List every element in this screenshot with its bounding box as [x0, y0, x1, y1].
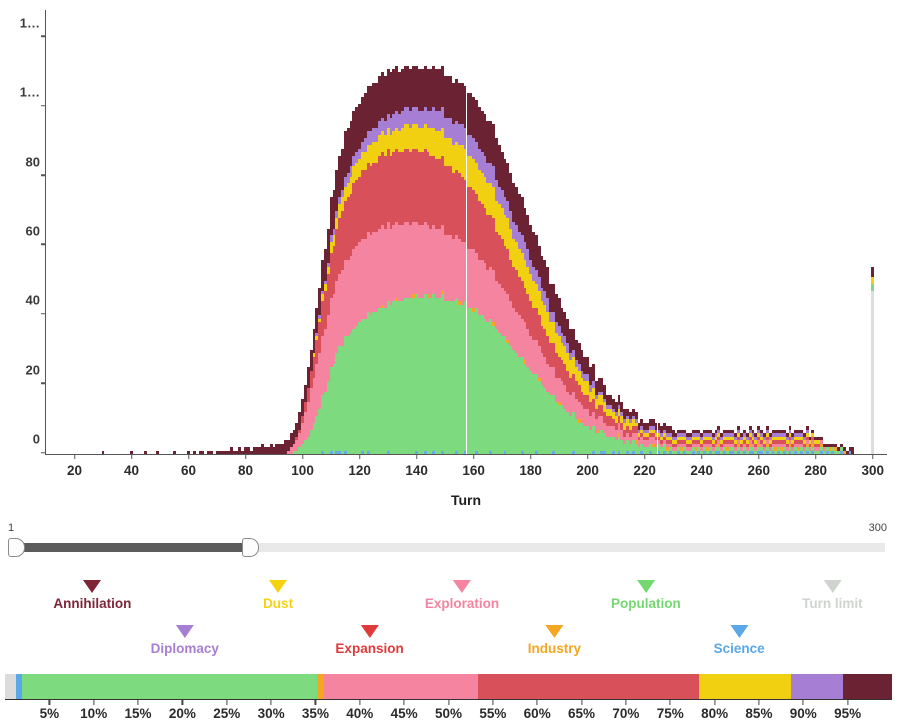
- bars-container: [46, 10, 887, 454]
- pct-axis-tick-mark: [492, 700, 493, 705]
- x-axis-tick-mark: [587, 454, 589, 459]
- pct-axis-tick-mark: [581, 700, 582, 705]
- x-axis-tick-label: 60: [181, 463, 196, 478]
- pct-segment-unlabeled-grey[interactable]: [5, 674, 16, 699]
- bar-segment-population: [871, 284, 874, 291]
- x-axis-tick-label: 260: [747, 463, 770, 478]
- pct-axis-tick-label: 25%: [213, 706, 240, 721]
- y-axis-tick-label: 0: [33, 432, 46, 447]
- bar-segment-annihilation: [635, 412, 638, 419]
- table-row[interactable]: [102, 451, 105, 454]
- x-axis-tick-mark: [188, 454, 190, 459]
- bar-segment-annihilation: [871, 267, 874, 277]
- triangle-down-icon: [637, 580, 655, 593]
- percentage-distribution-panel: 5%10%15%20%25%30%35%40%45%50%55%60%65%70…: [0, 670, 897, 725]
- pct-axis-tick-label: 75%: [657, 706, 684, 721]
- pct-axis-tick-label: 10%: [80, 706, 107, 721]
- legend-item-annihilation[interactable]: Annihilation: [53, 580, 131, 611]
- bar-segment-annihilation: [851, 447, 854, 454]
- pct-axis-tick-label: 35%: [302, 706, 329, 721]
- x-axis-tick-mark: [758, 454, 760, 459]
- pct-axis-tick-label: 40%: [346, 706, 373, 721]
- pct-axis-tick-mark: [93, 700, 94, 705]
- legend-item-expansion[interactable]: Expansion: [335, 625, 403, 656]
- triangle-down-icon: [83, 580, 101, 593]
- victory-type-legend: AnnihilationDustExplorationPopulationTur…: [0, 570, 897, 668]
- legend-item-label: Industry: [528, 641, 581, 656]
- legend-item-label: Turn limit: [802, 596, 863, 611]
- pct-axis-tick-mark: [49, 700, 50, 705]
- legend-item-label: Diplomacy: [151, 641, 219, 656]
- pct-axis-tick-mark: [137, 700, 138, 705]
- x-axis-tick-mark: [245, 454, 247, 459]
- pct-axis-tick-label: 50%: [435, 706, 462, 721]
- x-axis-tick-label: 220: [633, 463, 656, 478]
- legend-item-dust[interactable]: Dust: [263, 580, 293, 611]
- pct-axis-tick-mark: [448, 700, 449, 705]
- pct-axis-tick-mark: [670, 700, 671, 705]
- bar-segment-annihilation: [144, 451, 147, 454]
- pct-axis-tick-label: 65%: [568, 706, 595, 721]
- slider-max-label: 300: [869, 522, 887, 534]
- table-row[interactable]: [173, 451, 176, 454]
- slider-min-label: 1: [8, 522, 14, 534]
- x-axis-tick-label: 240: [690, 463, 713, 478]
- y-axis-tick-label: 1…: [20, 85, 46, 100]
- legend-item-science[interactable]: Science: [714, 625, 765, 656]
- x-axis-tick-mark: [530, 454, 532, 459]
- pct-axis-tick-mark: [404, 700, 405, 705]
- pct-axis-tick-mark: [758, 700, 759, 705]
- x-axis-tick-mark: [74, 454, 76, 459]
- x-axis-tick-mark: [416, 454, 418, 459]
- legend-item-label: Exploration: [425, 596, 499, 611]
- table-row[interactable]: [201, 451, 204, 454]
- slider-handle-right[interactable]: [242, 538, 259, 557]
- pct-axis-tick-label: 85%: [745, 706, 772, 721]
- y-axis-tick-label: 20: [26, 362, 46, 377]
- slider-selected-range[interactable]: [18, 543, 244, 552]
- pct-axis-tick-label: 45%: [391, 706, 418, 721]
- pct-axis-tick-mark: [271, 700, 272, 705]
- legend-item-industry[interactable]: Industry: [528, 625, 581, 656]
- bar-segment-annihilation: [201, 451, 204, 454]
- table-row[interactable]: [851, 447, 854, 454]
- x-axis-tick-mark: [302, 454, 304, 459]
- pct-axis-tick-label: 55%: [479, 706, 506, 721]
- pct-axis-tick-label: 30%: [258, 706, 285, 721]
- legend-item-label: Expansion: [335, 641, 403, 656]
- bar-segment-annihilation: [156, 451, 159, 454]
- x-axis-tick-mark: [473, 454, 475, 459]
- x-axis-tick-mark: [644, 454, 646, 459]
- triangle-down-icon: [545, 625, 563, 638]
- table-row[interactable]: [144, 451, 147, 454]
- plot-area: 0204060801…1… 20406080100120140160180200…: [45, 10, 887, 455]
- pct-segment-population[interactable]: [22, 674, 317, 699]
- x-axis-title: Turn: [45, 492, 887, 508]
- legend-item-diplomacy[interactable]: Diplomacy: [151, 625, 219, 656]
- bar-segment-annihilation: [173, 451, 176, 454]
- triangle-down-icon: [453, 580, 471, 593]
- pct-axis-tick-mark: [315, 700, 316, 705]
- table-row[interactable]: [193, 451, 196, 454]
- turn-limit-bar[interactable]: [871, 267, 874, 454]
- legend-item-population[interactable]: Population: [611, 580, 681, 611]
- x-axis-tick-mark: [872, 454, 874, 459]
- bar-segment-turn-limit: [871, 291, 874, 454]
- table-row[interactable]: [156, 451, 159, 454]
- x-axis-tick-mark: [359, 454, 361, 459]
- pct-axis-tick-mark: [625, 700, 626, 705]
- bar-segment-annihilation: [210, 451, 213, 454]
- pct-axis-tick-label: 95%: [834, 706, 861, 721]
- x-axis-tick-mark: [701, 454, 703, 459]
- pct-segment-industry[interactable]: [317, 674, 324, 699]
- triangle-down-icon: [269, 580, 287, 593]
- legend-item-label: Population: [611, 596, 681, 611]
- triangle-down-icon: [823, 580, 841, 593]
- pct-axis-tick-label: 5%: [40, 706, 60, 721]
- x-axis-tick-label: 80: [238, 463, 253, 478]
- y-axis-tick-label: 60: [26, 223, 46, 238]
- bar-segment-dust: [871, 277, 874, 284]
- x-axis-tick-label: 140: [405, 463, 428, 478]
- pct-axis-tick-label: 15%: [125, 706, 152, 721]
- pct-axis-tick-label: 60%: [524, 706, 551, 721]
- pct-axis-tick-mark: [714, 700, 715, 705]
- pct-axis-tick-label: 90%: [790, 706, 817, 721]
- x-axis-tick-label: 120: [348, 463, 371, 478]
- legend-item-label: Science: [714, 641, 765, 656]
- x-axis-tick-label: 160: [462, 463, 485, 478]
- table-row[interactable]: [210, 451, 213, 454]
- legend-item-label: Annihilation: [53, 596, 131, 611]
- x-axis-tick-mark: [815, 454, 817, 459]
- x-axis-tick-label: 40: [124, 463, 139, 478]
- turn-range-slider[interactable]: 1 300: [0, 522, 897, 564]
- pct-segment-expansion[interactable]: [478, 674, 700, 699]
- pct-segment-diplomacy[interactable]: [791, 674, 843, 699]
- x-axis-tick-label: 180: [519, 463, 542, 478]
- x-axis-tick-label: 100: [291, 463, 314, 478]
- pct-axis-tick-mark: [537, 700, 538, 705]
- percentage-bar: [5, 674, 892, 700]
- pct-axis-tick-mark: [847, 700, 848, 705]
- x-axis-tick-label: 20: [67, 463, 82, 478]
- pct-axis-tick-mark: [182, 700, 183, 705]
- triangle-down-icon: [361, 625, 379, 638]
- pct-segment-exploration[interactable]: [324, 674, 477, 699]
- stacked-bar-chart: 0204060801…1… 20406080100120140160180200…: [0, 0, 897, 520]
- legend-item-exploration[interactable]: Exploration: [425, 580, 499, 611]
- pct-axis-tick-label: 80%: [701, 706, 728, 721]
- bar-segment-annihilation: [592, 364, 595, 381]
- x-axis-tick-label: 200: [576, 463, 599, 478]
- pct-segment-annihilation[interactable]: [843, 674, 892, 699]
- y-axis-tick-label: 40: [26, 293, 46, 308]
- y-axis-tick-label: 80: [26, 154, 46, 169]
- pct-axis-tick-mark: [226, 700, 227, 705]
- pct-axis-tick-label: 20%: [169, 706, 196, 721]
- pct-axis-tick-mark: [803, 700, 804, 705]
- slider-handle-left[interactable]: [8, 538, 25, 557]
- legend-item-label: Dust: [263, 596, 293, 611]
- y-axis-tick-label: 1…: [20, 15, 46, 30]
- triangle-down-icon: [730, 625, 748, 638]
- pct-segment-dust[interactable]: [699, 674, 790, 699]
- x-axis-tick-label: 280: [804, 463, 827, 478]
- bar-segment-annihilation: [193, 451, 196, 454]
- x-axis-tick-mark: [131, 454, 133, 459]
- percentage-axis: 5%10%15%20%25%30%35%40%45%50%55%60%65%70…: [5, 700, 892, 725]
- legend-item-turn-limit[interactable]: Turn limit: [802, 580, 863, 611]
- x-axis-tick-label: 300: [861, 463, 884, 478]
- pct-axis-tick-label: 70%: [612, 706, 639, 721]
- bar-segment-annihilation: [102, 451, 105, 454]
- triangle-down-icon: [176, 625, 194, 638]
- app-root: 0204060801…1… 20406080100120140160180200…: [0, 0, 897, 725]
- pct-axis-tick-mark: [359, 700, 360, 705]
